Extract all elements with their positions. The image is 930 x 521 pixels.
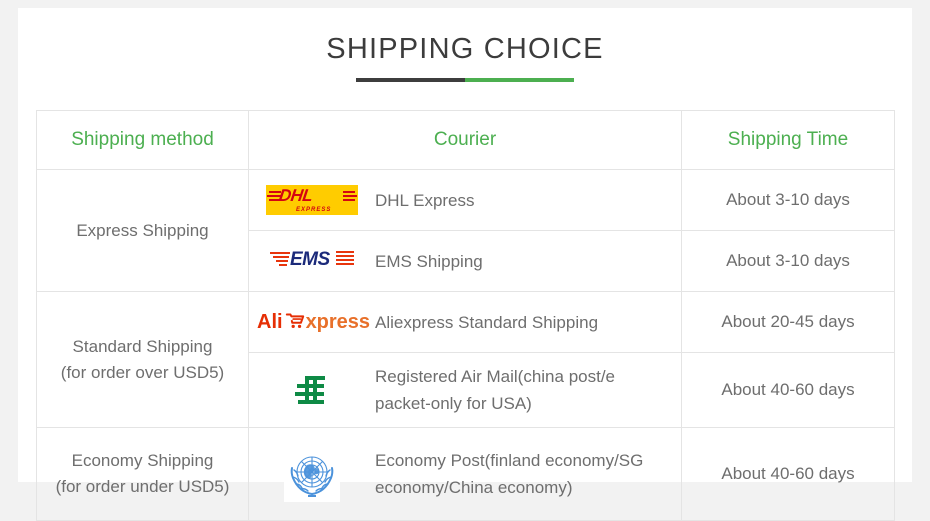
method-title: Standard Shipping	[37, 334, 248, 360]
china-post-logo	[289, 367, 335, 413]
title-underline-dark	[356, 78, 465, 82]
method-title: Economy Shipping	[37, 448, 248, 474]
shopping-cart-icon	[285, 310, 305, 335]
shipping-time-value: About 40-60 days	[682, 428, 895, 521]
column-header-shipping-time: Shipping Time	[682, 111, 895, 170]
column-header-shipping-method: Shipping method	[37, 111, 249, 170]
title-underline-green	[465, 78, 574, 82]
logo-slot: DHL EXPRESS	[249, 185, 375, 215]
courier-cell-aliexpress: Ali xpress	[249, 292, 682, 353]
courier-cell-china-post: Registered Air Mail(china post/e packet-…	[249, 353, 682, 428]
shipping-method-express: Express Shipping	[37, 170, 249, 292]
un-emblem-logo	[283, 445, 341, 503]
courier-label: DHL Express	[375, 187, 485, 214]
shipping-method-economy: Economy Shipping (for order under USD5)	[37, 428, 249, 521]
courier-label: Aliexpress Standard Shipping	[375, 309, 608, 336]
column-header-courier: Courier	[249, 111, 682, 170]
shipping-time-value: About 40-60 days	[682, 353, 895, 428]
shipping-choice-table: Shipping method Courier Shipping Time Ex…	[36, 110, 895, 521]
courier-cell-dhl: DHL EXPRESS DHL Express	[249, 170, 682, 231]
shipping-time-value: About 20-45 days	[682, 292, 895, 353]
table-row: Standard Shipping (for order over USD5) …	[37, 292, 895, 353]
ems-logo: EMS	[268, 246, 356, 276]
table-row: Express Shipping DHL EXPRESS DHL Expr	[37, 170, 895, 231]
courier-cell-economy-post: Economy Post(finland economy/SG economy/…	[249, 428, 682, 521]
logo-slot	[249, 367, 375, 413]
shipping-time-value: About 3-10 days	[682, 170, 895, 231]
logo-slot	[249, 445, 375, 503]
shipping-card: SHIPPING CHOICE Shipping method Courier …	[18, 8, 912, 482]
courier-cell-ems: EMS EMS Shipping	[249, 231, 682, 292]
courier-label: Registered Air Mail(china post/e packet-…	[375, 363, 681, 417]
table-header-row: Shipping method Courier Shipping Time	[37, 111, 895, 170]
shipping-time-value: About 3-10 days	[682, 231, 895, 292]
aliexpress-logo: Ali xpress	[257, 308, 367, 336]
shipping-method-standard: Standard Shipping (for order over USD5)	[37, 292, 249, 428]
courier-label: EMS Shipping	[375, 248, 493, 275]
table-row: Economy Shipping (for order under USD5)	[37, 428, 895, 521]
dhl-logo: DHL EXPRESS	[266, 185, 358, 215]
method-note: (for order under USD5)	[37, 474, 248, 500]
page-title: SHIPPING CHOICE	[18, 30, 912, 68]
method-note: (for order over USD5)	[37, 360, 248, 386]
logo-slot: EMS	[249, 246, 375, 276]
title-underline	[356, 78, 574, 82]
logo-slot: Ali xpress	[249, 308, 375, 336]
title-block: SHIPPING CHOICE	[18, 8, 912, 82]
courier-label: Economy Post(finland economy/SG economy/…	[375, 447, 681, 501]
method-title: Express Shipping	[37, 218, 248, 244]
